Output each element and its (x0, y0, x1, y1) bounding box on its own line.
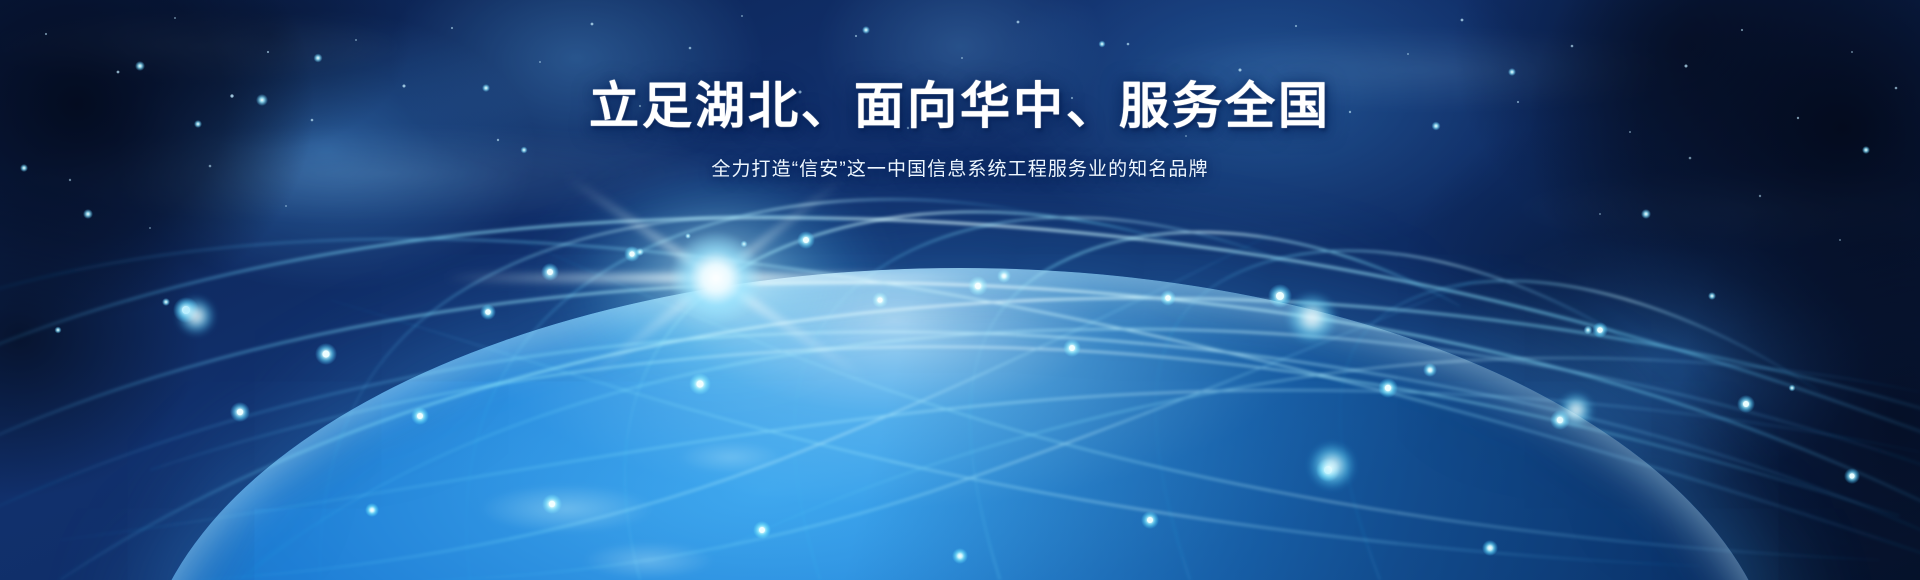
banner-copy: 立足湖北、面向华中、服务全国 全力打造“信安”这一中国信息系统工程服务业的知名品… (0, 78, 1920, 181)
banner-headline: 立足湖北、面向华中、服务全国 (0, 78, 1920, 134)
banner-subheadline: 全力打造“信安”这一中国信息系统工程服务业的知名品牌 (0, 154, 1920, 181)
hero-banner: 立足湖北、面向华中、服务全国 全力打造“信安”这一中国信息系统工程服务业的知名品… (0, 0, 1920, 580)
central-light-flare-core (656, 218, 776, 338)
